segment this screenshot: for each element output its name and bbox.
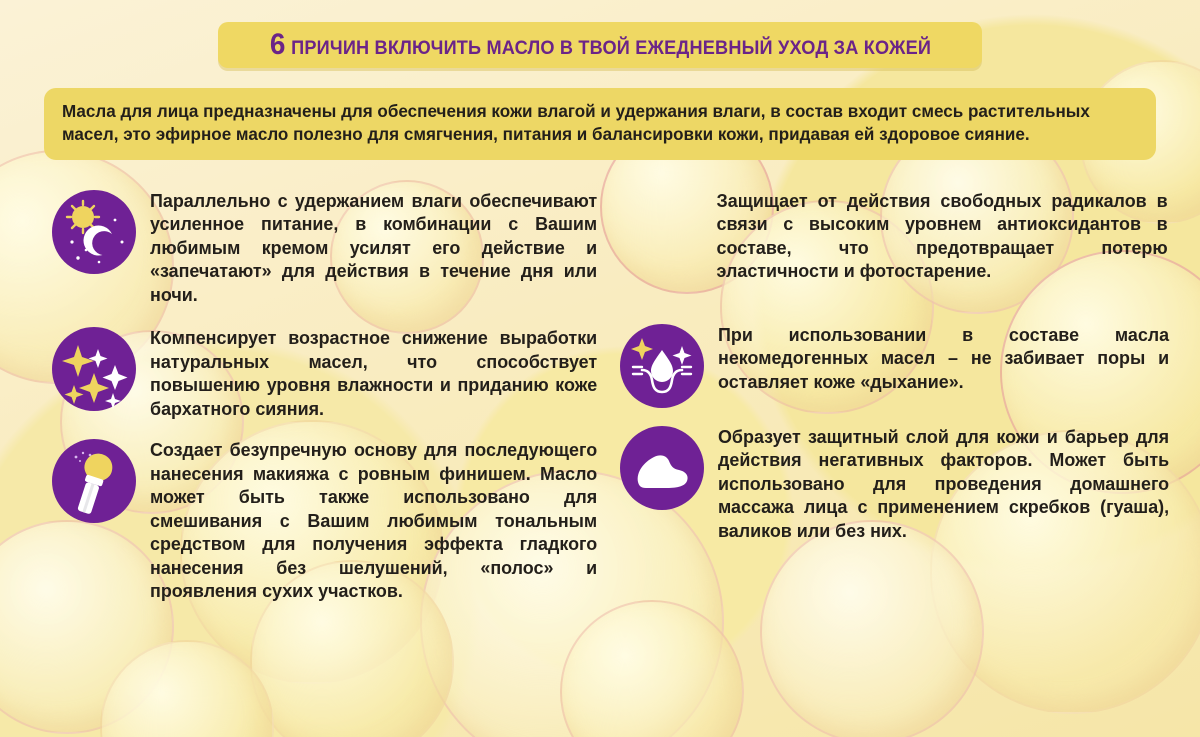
sparkles-icon <box>52 327 136 411</box>
benefit-text: Параллельно с удержанием влаги обеспечив… <box>150 190 597 307</box>
intro-text: Масла для лица предназначены для обеспеч… <box>62 100 1106 146</box>
benefit-item: При использовании в составе масла некоме… <box>620 324 1176 408</box>
benefit-item: Защищает от действия свободных радикалов… <box>620 190 1176 284</box>
benefit-item: Создает безупречную основу для последующ… <box>52 439 604 603</box>
page-title: ПРИЧИН ВКЛЮЧИТЬ МАСЛО В ТВОЙ ЕЖЕДНЕВНЫЙ … <box>291 37 931 60</box>
intro-box: Масла для лица предназначены для обеспеч… <box>44 88 1156 160</box>
benefit-item: Образует защитный слой для кожи и барьер… <box>620 426 1176 543</box>
title-banner: 6 ПРИЧИН ВКЛЮЧИТЬ МАСЛО В ТВОЙ ЕЖЕДНЕВНЫ… <box>218 22 982 68</box>
infographic-canvas: 6 ПРИЧИН ВКЛЮЧИТЬ МАСЛО В ТВОЙ ЕЖЕДНЕВНЫ… <box>0 0 1200 737</box>
title-text-wrap: 6 ПРИЧИН ВКЛЮЧИТЬ МАСЛО В ТВОЙ ЕЖЕДНЕВНЫ… <box>269 30 930 60</box>
gua-sha-stone-icon <box>620 426 704 510</box>
pore-droplet-icon <box>620 324 704 408</box>
right-column: Защищает от действия свободных радикалов… <box>620 190 1176 557</box>
icon-slot <box>620 324 704 408</box>
title-number: 6 <box>269 30 285 60</box>
icon-slot <box>52 190 136 274</box>
icon-slot <box>52 439 136 523</box>
benefit-text: Компенсирует возрастное снижение выработ… <box>150 327 597 421</box>
benefit-text: Образует защитный слой для кожи и барьер… <box>718 426 1169 543</box>
makeup-brush-icon <box>52 439 136 523</box>
benefit-item: Параллельно с удержанием влаги обеспечив… <box>52 190 604 307</box>
icon-slot <box>620 426 704 510</box>
left-column: Параллельно с удержанием влаги обеспечив… <box>52 190 604 618</box>
icon-slot <box>52 327 136 411</box>
sun-moon-icon <box>52 190 136 274</box>
benefit-text: Создает безупречную основу для последующ… <box>150 439 597 603</box>
benefit-text: При использовании в составе масла некоме… <box>718 324 1169 394</box>
benefit-text: Защищает от действия свободных радикалов… <box>620 190 1168 284</box>
benefit-item: Компенсирует возрастное снижение выработ… <box>52 327 604 421</box>
